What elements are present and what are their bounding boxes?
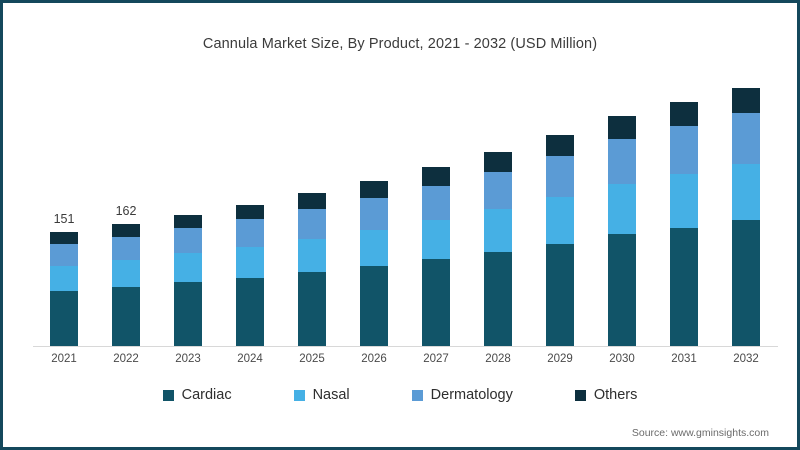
bar-segment-cardiac[interactable] (608, 234, 636, 347)
bar-segment-dermatology[interactable] (546, 156, 574, 197)
x-axis-tick-2025: 2025 (282, 353, 342, 365)
bar-group[interactable] (670, 102, 698, 347)
bar-segment-dermatology[interactable] (236, 219, 264, 246)
x-axis-tick-2027: 2027 (406, 353, 466, 365)
x-axis-tick-2031: 2031 (654, 353, 714, 365)
x-axis-line (33, 346, 778, 347)
bar-group[interactable] (732, 87, 760, 347)
legend-item-label: Nasal (313, 387, 350, 403)
bar-segment-others[interactable] (422, 167, 450, 185)
square-swatch-icon (294, 390, 305, 401)
square-swatch-icon (163, 390, 174, 401)
bar-stack[interactable] (174, 215, 202, 347)
bar-segment-nasal[interactable] (732, 164, 760, 220)
bar-segment-dermatology[interactable] (422, 186, 450, 220)
bar-segment-cardiac[interactable] (422, 259, 450, 347)
bar-segment-nasal[interactable] (484, 209, 512, 252)
bar-group[interactable]: 162 (112, 224, 140, 347)
bar-stack[interactable] (732, 88, 760, 348)
bar-segment-others[interactable] (174, 215, 202, 229)
x-axis-tick-2028: 2028 (468, 353, 528, 365)
bar-stack[interactable] (546, 135, 574, 347)
x-axis-tick-2026: 2026 (344, 353, 404, 365)
bar-stack[interactable] (484, 152, 512, 347)
bar-segment-others[interactable] (546, 135, 574, 156)
bar-segment-cardiac[interactable] (50, 291, 78, 347)
bar-stack[interactable] (670, 102, 698, 347)
bar-segment-nasal[interactable] (608, 184, 636, 234)
bar-segment-dermatology[interactable] (298, 209, 326, 239)
legend-item-dermatology[interactable]: Dermatology (412, 387, 513, 403)
legend-item-others[interactable]: Others (575, 387, 638, 403)
legend-item-label: Others (594, 387, 638, 403)
bar-segment-nasal[interactable] (546, 197, 574, 243)
bar-stack[interactable] (422, 167, 450, 347)
bar-segment-others[interactable] (360, 181, 388, 198)
bar-stack[interactable] (236, 205, 264, 347)
bar-segment-cardiac[interactable] (298, 272, 326, 347)
bar-group[interactable] (422, 167, 450, 347)
bar-group[interactable] (608, 116, 636, 347)
bar-group[interactable] (546, 135, 574, 347)
bar-group[interactable] (484, 152, 512, 347)
legend-item-nasal[interactable]: Nasal (294, 387, 350, 403)
bar-segment-others[interactable] (484, 152, 512, 172)
bar-segment-others[interactable] (236, 205, 264, 219)
legend: CardiacNasalDermatologyOthers (3, 387, 797, 403)
bar-segment-dermatology[interactable] (484, 172, 512, 209)
bar-segment-nasal[interactable] (174, 253, 202, 282)
bar-stack[interactable] (112, 224, 140, 347)
bar-segment-cardiac[interactable] (174, 282, 202, 347)
bar-stack[interactable] (50, 232, 78, 347)
bar-stack[interactable] (608, 116, 636, 347)
bar-group[interactable] (174, 215, 202, 347)
x-axis-tick-2022: 2022 (96, 353, 156, 365)
square-swatch-icon (575, 390, 586, 401)
square-swatch-icon (412, 390, 423, 401)
bar-segment-nasal[interactable] (298, 239, 326, 272)
bar-segment-nasal[interactable] (360, 230, 388, 267)
legend-item-label: Cardiac (182, 387, 232, 403)
bar-segment-cardiac[interactable] (546, 244, 574, 348)
bar-segment-nasal[interactable] (670, 174, 698, 227)
x-axis-tick-2024: 2024 (220, 353, 280, 365)
bar-stack[interactable] (298, 193, 326, 347)
x-axis-tick-2023: 2023 (158, 353, 218, 365)
bar-segment-dermatology[interactable] (670, 126, 698, 174)
page-title: Cannula Market Size, By Product, 2021 - … (3, 36, 797, 52)
x-axis-tick-2032: 2032 (716, 353, 776, 365)
legend-item-label: Dermatology (431, 387, 513, 403)
bar-segment-others[interactable] (298, 193, 326, 209)
bar-group[interactable] (236, 205, 264, 347)
bar-segment-dermatology[interactable] (608, 139, 636, 184)
bar-segment-cardiac[interactable] (732, 220, 760, 347)
bar-segment-others[interactable] (608, 116, 636, 139)
bar-segment-others[interactable] (112, 224, 140, 237)
bar-segment-nasal[interactable] (50, 266, 78, 291)
bar-group[interactable]: 151 (50, 232, 78, 347)
x-axis-tick-2021: 2021 (34, 353, 94, 365)
bar-value-label: 151 (54, 212, 75, 226)
bar-segment-nasal[interactable] (422, 220, 450, 260)
bar-segment-others[interactable] (670, 102, 698, 126)
x-axis-tick-2029: 2029 (530, 353, 590, 365)
bar-group[interactable] (360, 181, 388, 347)
bar-group[interactable] (298, 193, 326, 347)
bar-segment-dermatology[interactable] (112, 237, 140, 261)
bar-segment-dermatology[interactable] (174, 228, 202, 253)
chart-frame: Cannula Market Size, By Product, 2021 - … (0, 0, 800, 450)
bar-segment-cardiac[interactable] (670, 228, 698, 347)
bar-stack[interactable] (360, 181, 388, 347)
bar-segment-nasal[interactable] (112, 260, 140, 287)
bar-segment-cardiac[interactable] (360, 266, 388, 347)
bar-value-label: 162 (116, 204, 137, 218)
bar-segment-dermatology[interactable] (732, 113, 760, 164)
bar-segment-cardiac[interactable] (236, 278, 264, 347)
source-note: Source: www.gminsights.com (632, 427, 769, 439)
bar-segment-cardiac[interactable] (112, 287, 140, 347)
bar-segment-cardiac[interactable] (484, 252, 512, 347)
bar-segment-others[interactable] (50, 232, 78, 244)
x-axis-tick-2030: 2030 (592, 353, 652, 365)
plot-area: 151162 (33, 73, 777, 347)
bar-segment-dermatology[interactable] (50, 244, 78, 265)
legend-item-cardiac[interactable]: Cardiac (163, 387, 232, 403)
bar-segment-nasal[interactable] (236, 247, 264, 278)
bar-segment-dermatology[interactable] (360, 198, 388, 230)
bar-segment-others[interactable] (732, 88, 760, 113)
